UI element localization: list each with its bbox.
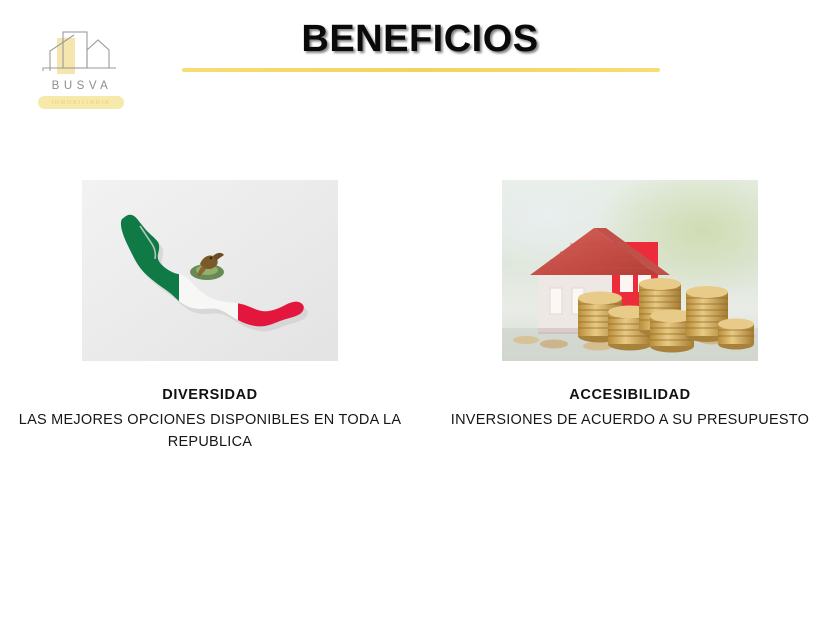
benefits-row: DIVERSIDAD LAS MEJORES OPCIONES DISPONIB… [0,180,840,453]
house-coins-graphic [502,180,758,361]
mexico-map-flag-image [82,180,338,361]
logo-wordmark: BUSVA [30,80,130,92]
house-coins-image [502,180,758,361]
benefit-item-accesibilidad: ACCESIBILIDAD INVERSIONES DE ACUERDO A S… [420,180,840,453]
benefit-description: LAS MEJORES OPCIONES DISPONIBLES EN TODA… [10,409,410,453]
benefit-heading: ACCESIBILIDAD [569,387,690,403]
benefit-description: INVERSIONES DE ACUERDO A SU PRESUPUESTO [430,409,830,431]
logo-tagline: INMOBILIARIA [51,100,110,106]
mexico-map-graphic [82,180,338,361]
title-underline-rule [182,68,660,72]
benefit-heading: DIVERSIDAD [162,387,257,403]
mexico-emblem-icon [190,253,224,280]
benefit-item-diversidad: DIVERSIDAD LAS MEJORES OPCIONES DISPONIB… [0,180,420,453]
logo-tagline-band: INMOBILIARIA [38,96,124,109]
page-title: BENEFICIOS [0,18,840,61]
